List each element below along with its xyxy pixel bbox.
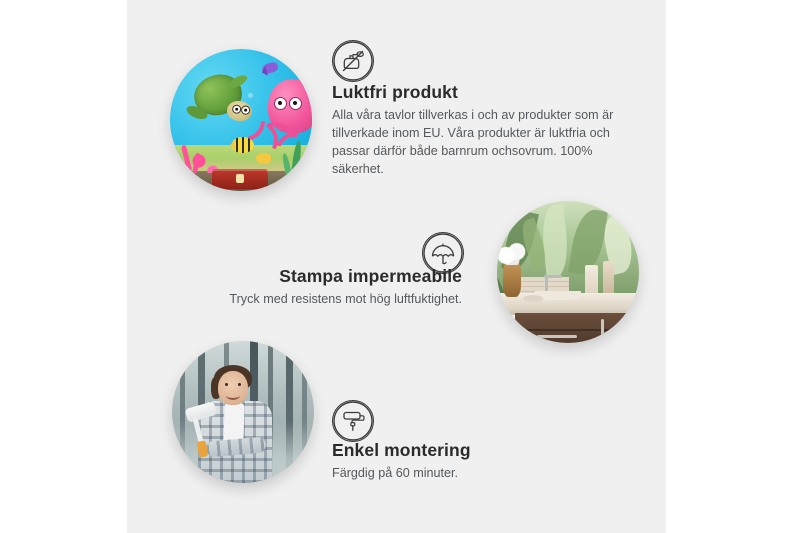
forest-decorator-portrait-image	[172, 341, 314, 483]
feature-title: Luktfri produkt	[332, 82, 632, 104]
promo-graphic: Luktfri produkt Alla våra tavlor tillver…	[0, 0, 800, 533]
feature-title: Stampa impermeabile	[214, 266, 462, 288]
no-fragrance-spray-icon	[332, 40, 374, 82]
feature-odour-free: Luktfri produkt Alla våra tavlor tillver…	[332, 82, 632, 178]
feature-waterproof: Stampa impermeabile Tryck med resistens …	[214, 266, 462, 309]
feature-description: Alla våra tavlor tillverkas i och av pro…	[332, 107, 632, 179]
feature-description: Färgdig på 60 minuter.	[332, 465, 582, 483]
feature-easy-mounting: Enkel montering Färgdig på 60 minuter.	[332, 440, 582, 483]
paint-roller-icon	[332, 400, 374, 442]
feature-description: Tryck med resistens mot hög luftfuktighe…	[214, 291, 462, 309]
bathroom-tropical-wallpaper-image	[497, 201, 639, 343]
feature-title: Enkel montering	[332, 440, 582, 462]
underwater-aquarium-mural-image	[170, 49, 312, 191]
